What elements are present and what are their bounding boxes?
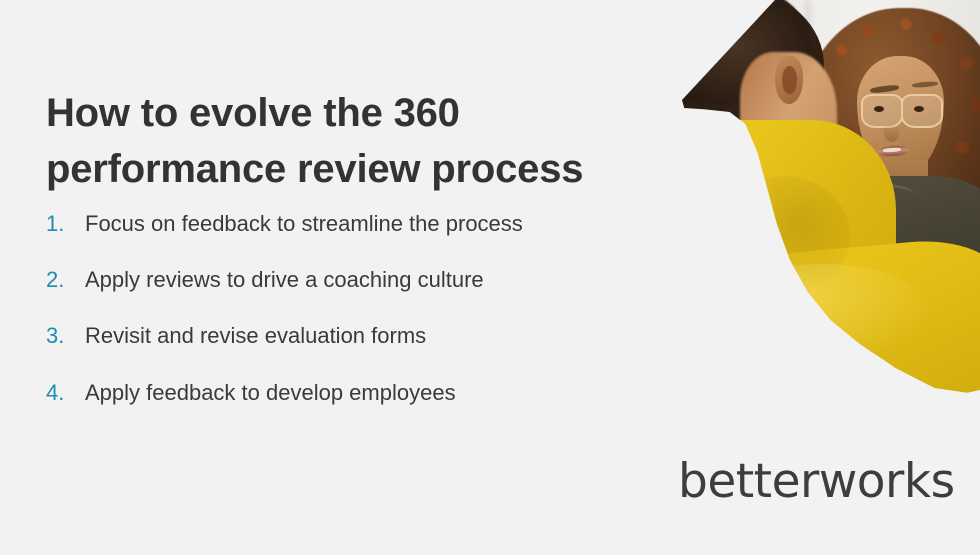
page-title: How to evolve the 360 performance review… <box>46 85 646 197</box>
step-number: 4. <box>46 381 85 405</box>
step-label: Focus on feedback to streamline the proc… <box>85 212 523 236</box>
hero-photo-inner <box>655 0 980 400</box>
list-item: 2. Apply reviews to drive a coaching cul… <box>46 268 656 292</box>
step-number: 2. <box>46 268 85 292</box>
step-number: 3. <box>46 324 85 348</box>
man-sweater-fold <box>720 176 850 296</box>
page-title-line-1: How to evolve the 360 <box>46 85 646 141</box>
man-ear-inner <box>782 66 796 94</box>
list-item: 3. Revisit and revise evaluation forms <box>46 324 656 348</box>
hero-photo <box>655 0 980 400</box>
step-label: Apply feedback to develop employees <box>85 381 456 405</box>
step-label: Apply reviews to drive a coaching cultur… <box>85 268 484 292</box>
page-title-line-2: performance review process <box>46 141 646 197</box>
step-label: Revisit and revise evaluation forms <box>85 324 426 348</box>
step-number: 1. <box>46 212 85 236</box>
betterworks-logo: betterworks <box>678 458 955 505</box>
woman-teeth <box>883 147 901 152</box>
slide-canvas: How to evolve the 360 performance review… <box>0 0 980 555</box>
steps-list: 1. Focus on feedback to streamline the p… <box>46 212 656 405</box>
list-item: 4. Apply feedback to develop employees <box>46 381 656 405</box>
list-item: 1. Focus on feedback to streamline the p… <box>46 212 656 236</box>
